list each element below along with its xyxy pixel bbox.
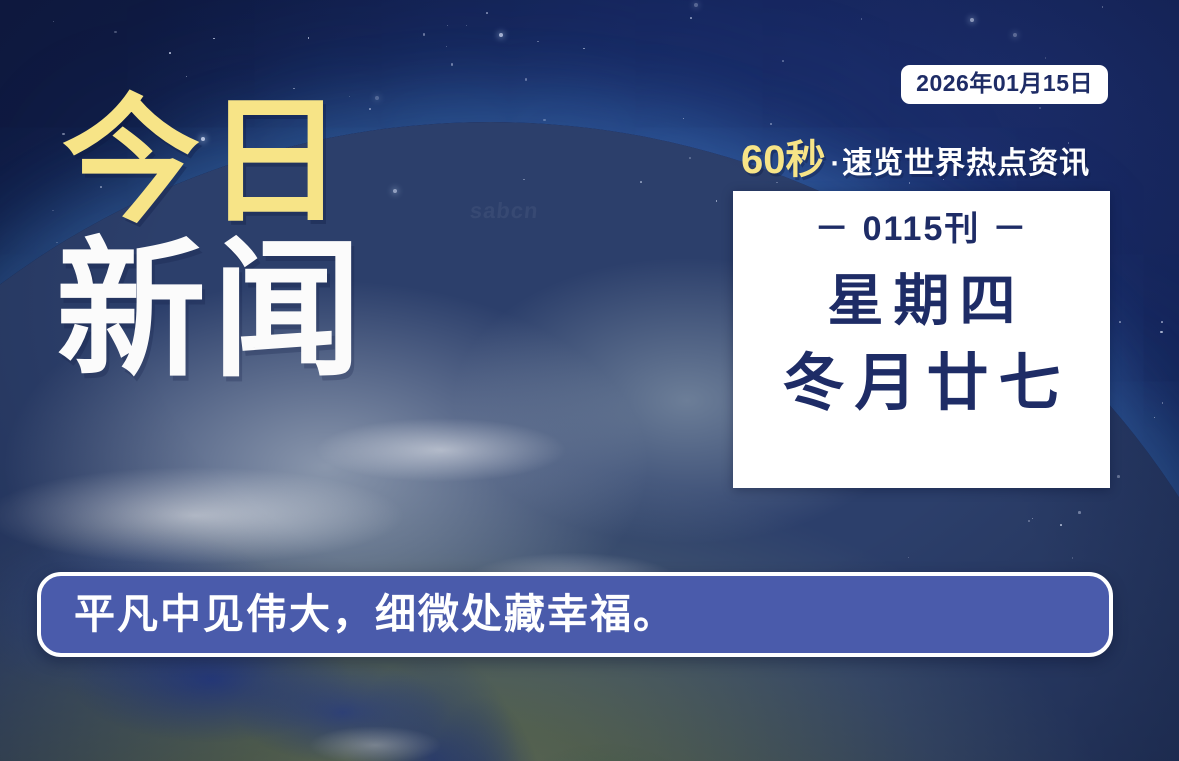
brand-title-line1: 今日 <box>62 96 368 228</box>
lunar-date-text: 冬月廿七 <box>733 350 1110 418</box>
news-poster: sabcn 2026年01月15日 今日 新闻 60秒·速览世界热点资讯 －01… <box>0 0 1179 761</box>
issue-dash-left: － <box>803 211 863 248</box>
info-card: －0115刊－ 星期四 冬月廿七 <box>733 191 1110 488</box>
tagline-slogan: 速览世界热点资讯 <box>842 147 1090 180</box>
quote-text: 平凡中见伟大，细微处藏幸福。 <box>41 594 676 635</box>
tagline-separator: · <box>826 148 843 180</box>
brand-title-line2: 新闻 <box>56 238 368 382</box>
brand-title: 今日 新闻 <box>62 96 368 382</box>
date-badge: 2026年01月15日 <box>901 65 1108 104</box>
issue-line: －0115刊－ <box>733 211 1110 248</box>
quote-banner: 平凡中见伟大，细微处藏幸福。 <box>37 572 1113 657</box>
tagline: 60秒·速览世界热点资讯 <box>741 140 1090 180</box>
issue-number: 0115刊 <box>863 210 981 248</box>
issue-dash-right: － <box>980 211 1040 248</box>
tagline-seconds: 60秒 <box>741 138 826 182</box>
weekday-text: 星期四 <box>733 270 1110 332</box>
